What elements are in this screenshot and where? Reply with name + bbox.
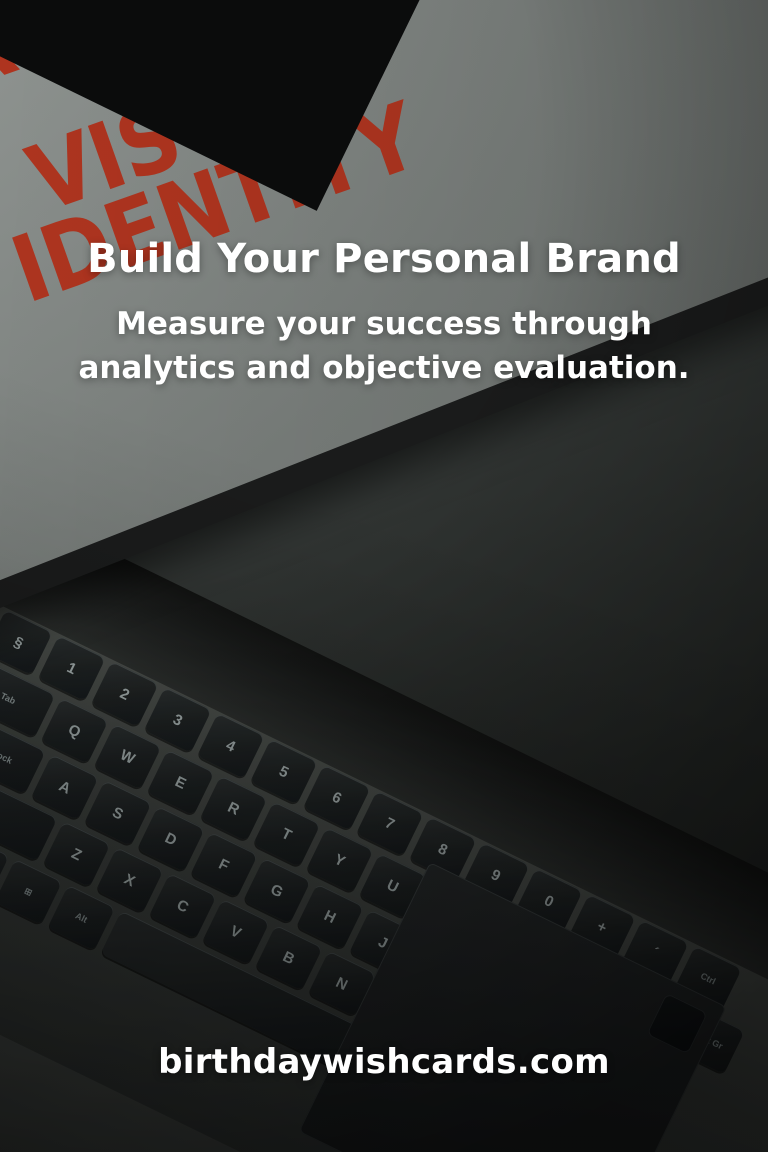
- site-watermark: birthdaywishcards.com: [0, 1042, 768, 1082]
- subheadline: Measure your success through analytics a…: [64, 302, 704, 390]
- pinterest-poster: esc F1 F2 F3 F4 F5 F6 F7 F8 F9 F10 F11 F…: [0, 0, 768, 1152]
- headline: Build Your Personal Brand: [0, 236, 768, 282]
- text-overlay: Build Your Personal Brand Measure your s…: [0, 0, 768, 1152]
